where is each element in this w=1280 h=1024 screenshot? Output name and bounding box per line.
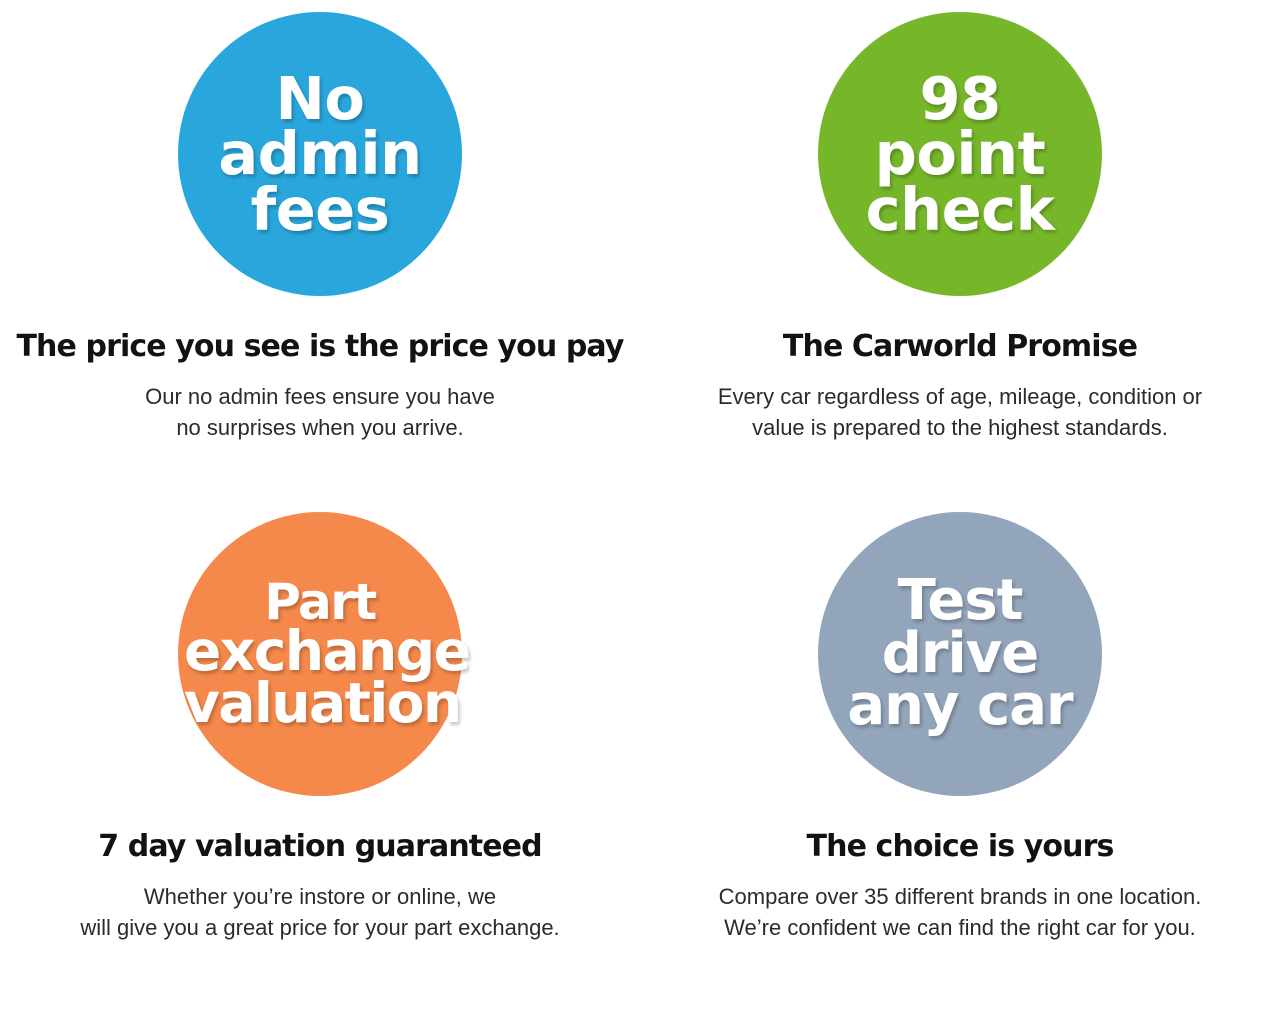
usp-body-line: Our no admin fees ensure you have <box>145 381 495 412</box>
badge-text-test-drive-any-car: Test drive any car <box>818 575 1102 733</box>
usp-heading-98-point-check: The Carworld Promise <box>783 330 1137 363</box>
usp-body-line: Whether you’re instore or online, we <box>80 881 559 912</box>
badge-text-98-point-check: 98 point check <box>818 71 1102 237</box>
usp-card-part-exchange-valuation: Part exchange valuation 7 day valuation … <box>0 512 640 1012</box>
usp-body-line: will give you a great price for your par… <box>80 912 559 943</box>
badge-line-3: valuation <box>184 678 456 730</box>
badge-circle-no-admin-fees: No admin fees <box>178 12 462 296</box>
badge-line-1: 98 <box>824 71 1096 126</box>
usp-body-line: Compare over 35 different brands in one … <box>719 881 1202 912</box>
badge-line-3: any car <box>824 680 1096 733</box>
usp-body-no-admin-fees: Our no admin fees ensure you have no sur… <box>145 381 495 443</box>
badge-line-2: exchange <box>184 626 456 678</box>
usp-heading-no-admin-fees: The price you see is the price you pay <box>16 330 623 363</box>
badge-circle-98-point-check: 98 point check <box>818 12 1102 296</box>
badge-line-3: fees <box>184 182 456 237</box>
usp-body-line: Every car regardless of age, mileage, co… <box>718 381 1202 412</box>
badge-line-2: admin <box>184 126 456 181</box>
usp-heading-test-drive-any-car: The choice is yours <box>807 830 1114 863</box>
usp-body-part-exchange-valuation: Whether you’re instore or online, we wil… <box>80 881 559 943</box>
usp-body-line: We’re confident we can find the right ca… <box>719 912 1202 943</box>
usp-body-line: no surprises when you arrive. <box>145 412 495 443</box>
badge-line-3: check <box>824 182 1096 237</box>
usp-card-test-drive-any-car: Test drive any car The choice is yours C… <box>640 512 1280 1012</box>
badge-circle-test-drive-any-car: Test drive any car <box>818 512 1102 796</box>
badge-line-1: No <box>184 71 456 126</box>
usp-body-98-point-check: Every car regardless of age, mileage, co… <box>718 381 1202 443</box>
usp-body-test-drive-any-car: Compare over 35 different brands in one … <box>719 881 1202 943</box>
badge-text-no-admin-fees: No admin fees <box>178 71 462 237</box>
usp-grid: No admin fees The price you see is the p… <box>0 0 1280 1024</box>
usp-body-line: value is prepared to the highest standar… <box>718 412 1202 443</box>
badge-line-2: point <box>824 126 1096 181</box>
badge-circle-part-exchange-valuation: Part exchange valuation <box>178 512 462 796</box>
badge-text-part-exchange-valuation: Part exchange valuation <box>178 579 462 729</box>
usp-card-no-admin-fees: No admin fees The price you see is the p… <box>0 12 640 512</box>
badge-line-1: Test <box>824 575 1096 628</box>
usp-heading-part-exchange-valuation: 7 day valuation guaranteed <box>98 830 541 863</box>
usp-card-98-point-check: 98 point check The Carworld Promise Ever… <box>640 12 1280 512</box>
